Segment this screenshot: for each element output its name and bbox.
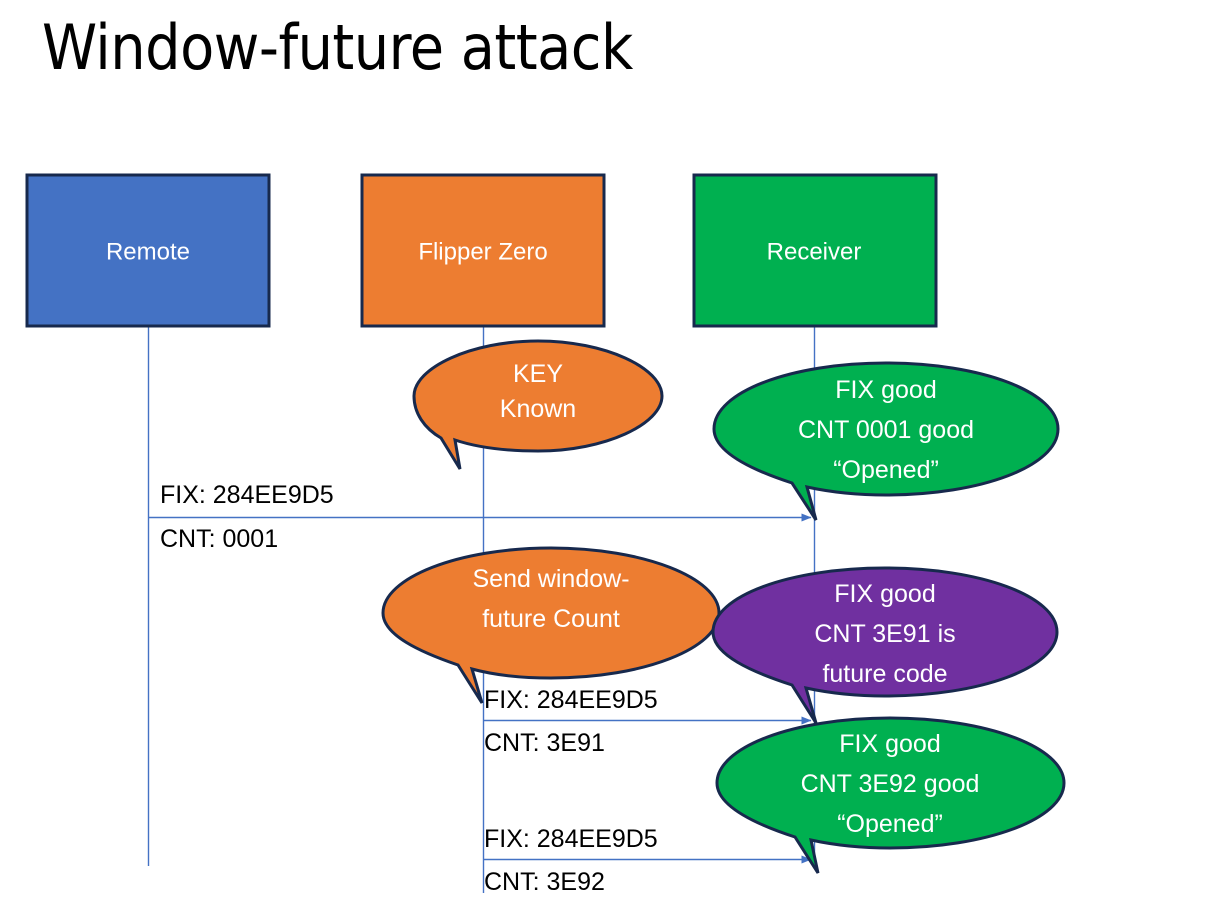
- message-fix-label-2: FIX: 284EE9D5: [484, 686, 658, 714]
- callout-key-known: KEY Known: [414, 341, 662, 469]
- message-fix-label-1: FIX: 284EE9D5: [160, 481, 334, 509]
- callout-fix-good-3e92-line-2: CNT 3E92 good: [801, 770, 980, 798]
- actor-label-remote: Remote: [106, 238, 190, 265]
- actor-box-receiver[interactable]: Receiver: [694, 175, 936, 326]
- callout-key-known-line-2: Known: [500, 395, 576, 423]
- callout-send-window-future-count-line-1: Send window-: [472, 565, 629, 593]
- callout-fix-good-0001: FIX good CNT 0001 good “Opened”: [714, 363, 1058, 520]
- callout-fix-good-0001-line-2: CNT 0001 good: [798, 416, 974, 444]
- callout-fix-good-3e91-future-line-3: future code: [822, 660, 947, 688]
- callout-fix-good-3e92: FIX good CNT 3E92 good “Opened”: [717, 718, 1064, 873]
- message-cnt-label-3: CNT: 3E92: [484, 868, 605, 896]
- sequence-diagram: FIX: 284EE9D5 CNT: 0001 FIX: 284EE9D5 CN…: [0, 0, 1216, 898]
- message-fix-label-3: FIX: 284EE9D5: [484, 825, 658, 853]
- message-cnt-label-2: CNT: 3E91: [484, 729, 605, 757]
- actor-label-receiver: Receiver: [767, 238, 862, 265]
- callout-fix-good-3e91-future-line-2: CNT 3E91 is: [814, 620, 955, 648]
- slide-canvas: Window-future attack FIX: 284EE9D5 CNT: …: [0, 0, 1216, 898]
- callout-fix-good-0001-line-1: FIX good: [835, 376, 936, 404]
- actor-box-flipper[interactable]: Flipper Zero: [362, 175, 604, 326]
- callout-fix-good-3e92-line-3: “Opened”: [837, 810, 943, 838]
- callout-fix-good-0001-line-3: “Opened”: [833, 456, 939, 484]
- actor-label-flipper: Flipper Zero: [418, 238, 547, 265]
- callout-send-window-future-count-line-2: future Count: [482, 605, 620, 633]
- callout-fix-good-3e92-line-1: FIX good: [839, 730, 940, 758]
- message-cnt-label-1: CNT: 0001: [160, 525, 278, 553]
- callout-send-window-future-count: Send window- future Count: [383, 548, 719, 703]
- callout-key-known-line-1: KEY: [513, 360, 563, 388]
- callout-fix-good-3e91-future: FIX good CNT 3E91 is future code: [713, 568, 1057, 723]
- actor-box-remote[interactable]: Remote: [27, 175, 269, 326]
- callout-fix-good-3e91-future-line-1: FIX good: [834, 580, 935, 608]
